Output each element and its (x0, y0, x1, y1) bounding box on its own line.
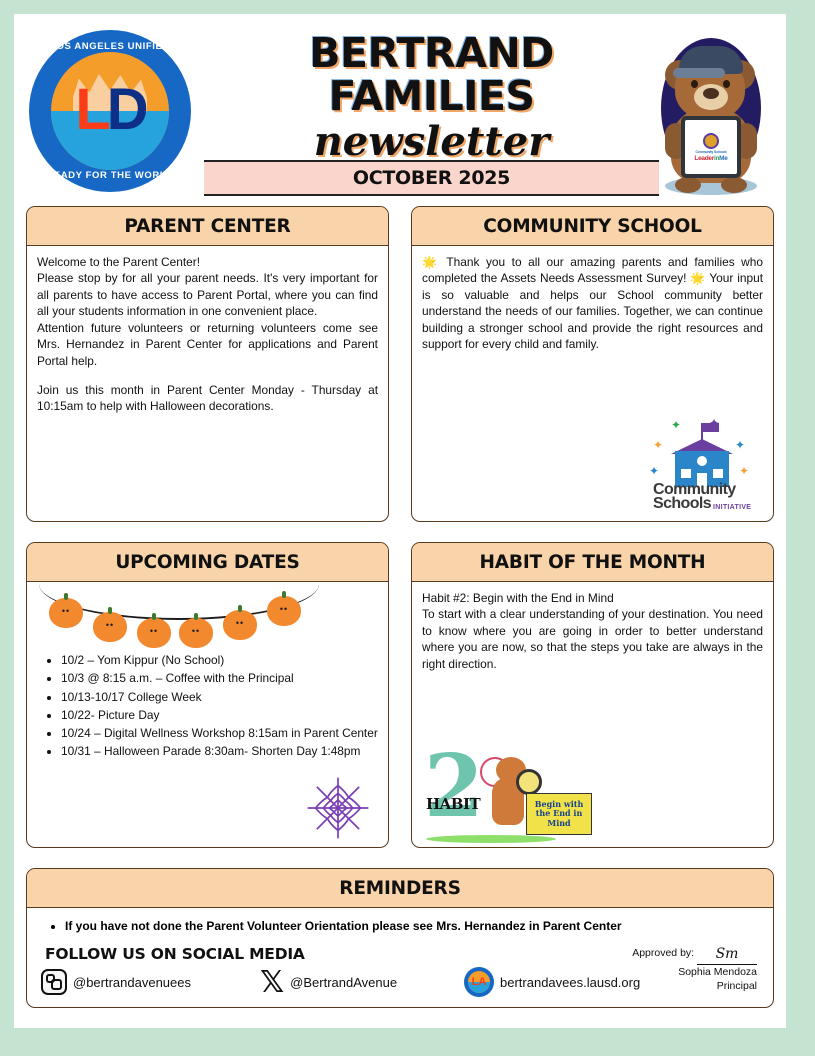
parent-center-para-1: Welcome to the Parent Center! (37, 254, 378, 270)
card-header-habit: HABIT OF THE MONTH (412, 543, 773, 582)
spider-web-icon (302, 775, 374, 841)
pumpkin-2: •• (93, 612, 127, 642)
card-body-community-school: 🌟 Thank you to all our amazing parents a… (412, 246, 773, 361)
list-item: 10/22- Picture Day (61, 707, 378, 724)
pumpkin-5: •• (223, 610, 257, 640)
pumpkin-face-1: •• (49, 606, 83, 616)
pumpkin-face-2: •• (93, 620, 127, 630)
card-parent-center: PARENT CENTER Welcome to the Parent Cent… (26, 206, 389, 522)
pumpkin-face-5: •• (223, 618, 257, 628)
magnifier-icon (516, 769, 542, 795)
instagram-handle: @bertrandavenuees (73, 975, 191, 990)
pumpkin-face-6: •• (267, 604, 301, 614)
parent-center-para-4: Join us this month in Parent Center Mond… (37, 382, 378, 415)
habit-box-text: Begin with the End in Mind (526, 793, 592, 835)
approved-line: Approved by: Sm (632, 945, 757, 965)
card-header-community-school: COMMUNITY SCHOOL (412, 207, 773, 246)
x-link[interactable]: 𝕏 @BertrandAvenue (260, 969, 460, 996)
list-item: 10/24 – Digital Wellness Workshop 8:15am… (61, 725, 378, 742)
tablet-badge-icon (703, 133, 719, 149)
community-school-body: 🌟 Thank you to all our amazing parents a… (422, 254, 763, 353)
cs-logo-line2: Schools (653, 495, 711, 513)
principal-title: Principal (632, 979, 757, 993)
bear-eye-left (691, 80, 698, 88)
upcoming-dates-list: 10/2 – Yom Kippur (No School) 10/3 @ 8:1… (37, 652, 378, 761)
title-main: BERTRAND FAMILIES (204, 32, 659, 118)
cs-logo-line3: INITIATIVE (713, 504, 751, 511)
pumpkin-garland-icon: •• •• •• •• •• •• (27, 584, 388, 646)
card-body-upcoming-dates: 10/2 – Yom Kippur (No School) 10/3 @ 8:1… (27, 652, 388, 770)
lausd-logo-icon: LOS ANGELES UNIFIED LD READY FOR THE WOR… (29, 30, 191, 192)
pumpkin-4: •• (179, 618, 213, 648)
cs-star-orange-1: ✦ (653, 439, 663, 451)
card-reminders: REMINDERS If you have not done the Paren… (26, 868, 774, 1008)
cs-window-right (713, 469, 723, 478)
list-item: 10/13-10/17 College Week (61, 689, 378, 706)
approval-block: Approved by: Sm Sophia Mendoza Principal (632, 945, 757, 993)
parent-center-para-2: Please stop by for all your parent needs… (37, 270, 378, 319)
list-item: 10/3 @ 8:15 a.m. – Coffee with the Princ… (61, 670, 378, 687)
list-item: If you have not done the Parent Voluntee… (65, 918, 761, 935)
pumpkin-face-4: •• (179, 626, 213, 636)
card-body-reminders: If you have not done the Parent Voluntee… (27, 908, 773, 939)
bear-tablet-icon: Community Schools LeaderinMe (681, 116, 741, 178)
row-two: UPCOMING DATES •• •• •• •• •• •• 10/2 – … (26, 542, 774, 848)
card-community-school: COMMUNITY SCHOOL 🌟 Thank you to all our … (411, 206, 774, 522)
card-body-habit: Habit #2: Begin with the End in Mind To … (412, 582, 773, 680)
approved-label: Approved by: (632, 947, 694, 959)
date-banner-text: OCTOBER 2025 (353, 167, 510, 189)
website-link[interactable]: LA bertrandavees.lausd.org (464, 967, 640, 997)
cs-star-orange-2: ✦ (739, 465, 749, 477)
x-handle: @BertrandAvenue (290, 975, 397, 990)
card-habit-of-the-month: HABIT OF THE MONTH Habit #2: Begin with … (411, 542, 774, 848)
row-one: PARENT CENTER Welcome to the Parent Cent… (26, 206, 774, 522)
logo-text-bottom: READY FOR THE WORLD (29, 170, 191, 181)
principal-name: Sophia Mendoza (632, 965, 757, 979)
newsletter-page: LOS ANGELES UNIFIED LD READY FOR THE WOR… (14, 14, 786, 1028)
card-header-reminders: REMINDERS (27, 869, 773, 908)
habit-two-graphic-icon: 2 HABIT Begin with the End in Mind (422, 751, 597, 843)
cs-clock-icon (696, 455, 708, 467)
reminders-list: If you have not done the Parent Voluntee… (39, 918, 761, 935)
card-body-parent-center: Welcome to the Parent Center! Please sto… (27, 246, 388, 423)
logo-monogram: LD (75, 76, 144, 143)
page-title: BERTRAND FAMILIES newsletter (204, 32, 659, 164)
footer: FOLLOW US ON SOCIAL MEDIA @bertrandavenu… (27, 939, 773, 1007)
habit-word: HABIT (426, 795, 480, 813)
lausd-mini-logo-icon: LA (464, 967, 494, 997)
cs-window-left (681, 469, 691, 478)
pumpkin-face-3: •• (137, 626, 171, 636)
bear-mascot-icon: Community Schools LeaderinMe (643, 28, 778, 203)
bear-cap-brim (673, 68, 725, 78)
tablet-community-schools-label: Community Schools (695, 150, 726, 154)
content-grid: PARENT CENTER Welcome to the Parent Cent… (14, 206, 786, 1008)
parent-center-para-3: Attention future volunteers or returning… (37, 320, 378, 369)
habit-bear-icon (484, 757, 532, 829)
list-item: 10/31 – Halloween Parade 8:30am- Shorten… (61, 743, 378, 760)
website-url: bertrandavees.lausd.org (500, 975, 640, 990)
title-subtitle: newsletter (204, 120, 659, 164)
bear-foot-left (675, 177, 701, 193)
bear-eye-right (723, 80, 730, 88)
spider-web-svg (302, 775, 374, 841)
newsletter-header: LOS ANGELES UNIFIED LD READY FOR THE WOR… (14, 14, 786, 202)
card-header-parent-center: PARENT CENTER (27, 207, 388, 246)
community-schools-initiative-logo-icon: ✦ ✦ ✦ ✦ ✦ ✦ Community Schools INITIATIVE (647, 417, 757, 515)
pumpkin-6: •• (267, 596, 301, 626)
logo-letter-d: D (107, 77, 145, 142)
card-title-parent-center: PARENT CENTER (124, 216, 290, 237)
card-title-community-school: COMMUNITY SCHOOL (483, 216, 701, 237)
habit-body: To start with a clear understanding of y… (422, 606, 763, 672)
list-item: 10/2 – Yom Kippur (No School) (61, 652, 378, 669)
date-banner: OCTOBER 2025 (204, 160, 659, 196)
logo-letter-l: L (75, 77, 106, 142)
tablet-leader-in-me-logo: LeaderinMe (694, 155, 727, 162)
lausd-mini-monogram: LA (472, 976, 487, 988)
bear-nose (703, 88, 719, 99)
habit-heading: Habit #2: Begin with the End in Mind (422, 590, 763, 606)
instagram-link[interactable]: @bertrandavenuees (41, 969, 256, 995)
pumpkin-3: •• (137, 618, 171, 648)
tablet-screen: Community Schools LeaderinMe (685, 120, 737, 174)
bear-foot-right (721, 177, 747, 193)
card-upcoming-dates: UPCOMING DATES •• •• •• •• •• •• 10/2 – … (26, 542, 389, 848)
cs-star-green-1: ✦ (671, 419, 681, 431)
cs-star-blue-1: ✦ (735, 439, 745, 451)
card-header-upcoming-dates: UPCOMING DATES (27, 543, 388, 582)
card-title-upcoming-dates: UPCOMING DATES (115, 552, 299, 573)
instagram-icon[interactable] (41, 969, 67, 995)
card-title-habit: HABIT OF THE MONTH (480, 552, 706, 573)
principal-signature: Sm (697, 945, 757, 965)
card-title-reminders: REMINDERS (339, 878, 460, 899)
pumpkin-1: •• (49, 598, 83, 628)
x-twitter-icon[interactable]: 𝕏 (260, 969, 284, 996)
logo-text-top: LOS ANGELES UNIFIED (29, 41, 191, 52)
lim-part-leader: Leader (694, 155, 714, 162)
cs-star-blue-2: ✦ (649, 465, 659, 477)
lim-part-me: Me (719, 155, 727, 162)
